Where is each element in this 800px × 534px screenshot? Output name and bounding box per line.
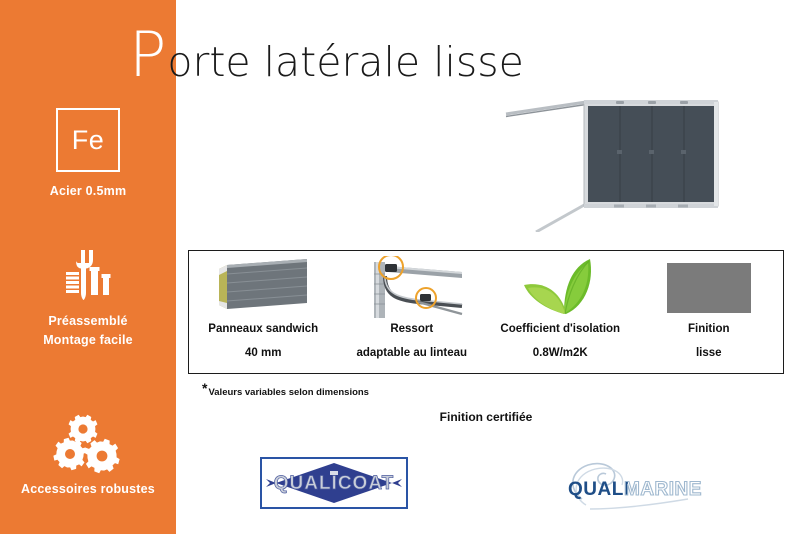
feature-value-sandwich-panel: 40 mm <box>245 346 281 360</box>
sidebar-label-steel: Acier 0.5mm <box>0 182 176 201</box>
fe-element-box-icon: Fe <box>56 108 120 172</box>
qualicoat-logo: QUALICOAT QUALICOAT <box>260 457 408 509</box>
feature-spring: Ressort adaptable au linteau <box>338 251 487 373</box>
feature-title-finish: Finition <box>688 322 730 336</box>
features-panel: Panneaux sandwich 40 mm <box>188 250 784 374</box>
sidebar-label-preassembled: Préassemblé <box>0 312 176 331</box>
footnote-text: Valeurs variables selon dimensions <box>208 387 369 398</box>
page-title-initial: P <box>129 24 166 86</box>
sidebar-label-accessories: Accessoires robustes <box>0 480 176 499</box>
feature-value-insulation: 0.8W/m2K <box>533 346 588 360</box>
svg-text:MARINE: MARINE <box>624 479 702 500</box>
sidebar-item-preassembled: Préassemblé Montage facile <box>0 248 176 350</box>
feature-title-spring: Ressort <box>390 322 433 336</box>
sidebar-item-accessories: Accessoires robustes <box>0 412 176 499</box>
gears-icon <box>0 412 176 474</box>
footnote: *Valeurs variables selon dimensions <box>202 380 369 398</box>
spring-rail-mechanism-image <box>358 255 466 321</box>
svg-text:QUALICOAT: QUALICOAT <box>274 473 395 494</box>
feature-value-spring: adaptable au linteau <box>356 346 467 360</box>
feature-title-insulation: Coefficient d'isolation <box>500 322 620 336</box>
sidebar-label-easy-assembly: Montage facile <box>0 331 176 350</box>
sandwich-panel-image <box>211 255 315 321</box>
finish-color-swatch <box>667 263 751 313</box>
feature-insulation: Coefficient d'isolation 0.8W/m2K <box>486 251 635 373</box>
product-sheet-page: Fe Acier 0.5mm <box>0 0 800 534</box>
qualimarine-logo: QUALI MARINE QUALI MARINE <box>560 455 720 513</box>
feature-finish: Finition lisse <box>635 251 784 373</box>
green-leaves-icon <box>520 255 600 321</box>
footnote-marker: * <box>202 380 207 396</box>
feature-sandwich-panel: Panneaux sandwich 40 mm <box>189 251 338 373</box>
page-title-rest: orte latérale lisse <box>167 31 523 93</box>
page-title: Porte latérale lisse <box>129 24 524 86</box>
feature-title-sandwich-panel: Panneaux sandwich <box>208 322 318 336</box>
sidebar-item-steel: Fe Acier 0.5mm <box>0 108 176 201</box>
sectional-side-door-image <box>500 86 732 232</box>
certification-logos: QUALICOAT QUALICOAT QUALI MARINE QUALI M… <box>188 455 784 517</box>
fe-symbol-text: Fe <box>72 127 105 154</box>
color-swatch-icon <box>667 255 751 321</box>
certification-title: Finition certifiée <box>188 410 784 424</box>
wrench-and-bolts-icon <box>0 248 176 306</box>
svg-text:QUALI: QUALI <box>568 479 630 500</box>
feature-value-finish: lisse <box>696 346 722 360</box>
